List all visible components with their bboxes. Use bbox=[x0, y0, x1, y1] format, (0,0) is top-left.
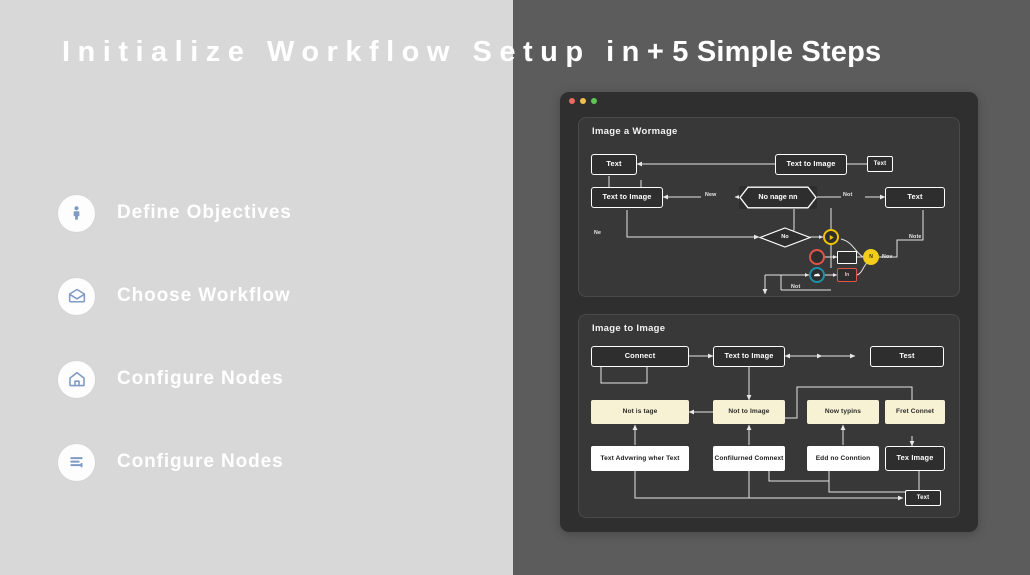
step-item-3[interactable]: Configure Nodes bbox=[58, 358, 488, 400]
node-label: No nage nn bbox=[758, 193, 797, 201]
node-fret-connet[interactable]: Fret Connet bbox=[885, 400, 945, 424]
step-item-4[interactable]: Configure Nodes bbox=[58, 441, 488, 483]
step-label-1: Define Objectives bbox=[117, 202, 292, 224]
node-label: Fret Connet bbox=[896, 408, 934, 415]
maximize-dot[interactable] bbox=[591, 98, 597, 104]
node-text-to-image-2[interactable]: Text to Image bbox=[591, 187, 663, 208]
node-label: Text to Image bbox=[602, 193, 651, 201]
diagram-panel-1: Image a Wormage bbox=[578, 117, 960, 297]
node-play-circle[interactable] bbox=[823, 229, 839, 245]
node-label: Text bbox=[874, 161, 887, 168]
node-edd-no-conntion[interactable]: Edd no Conntion bbox=[807, 446, 879, 471]
step-label-4: Configure Nodes bbox=[117, 451, 284, 473]
node-terminal-text[interactable]: Text bbox=[905, 490, 941, 506]
node-confilurned[interactable]: Confilurned Comnext bbox=[713, 446, 785, 471]
node-tex-image[interactable]: Tex Image bbox=[885, 446, 945, 471]
close-dot[interactable] bbox=[569, 98, 575, 104]
minimize-dot[interactable] bbox=[580, 98, 586, 104]
edge-label-not2: Not bbox=[791, 284, 800, 290]
node-label: No bbox=[781, 234, 788, 240]
node-decision-hexagon[interactable]: No nage nn bbox=[739, 186, 817, 209]
home-icon bbox=[58, 361, 95, 398]
node-label: Tex Image bbox=[897, 454, 934, 462]
node-label: Not is tage bbox=[623, 408, 658, 415]
node-decision-small[interactable]: No bbox=[759, 227, 811, 248]
node-text-to-image-1[interactable]: Text to Image bbox=[775, 154, 847, 175]
node-label: Not to Image bbox=[728, 408, 769, 415]
node-text-2[interactable]: Text bbox=[885, 187, 945, 208]
app-window: Image a Wormage bbox=[560, 92, 978, 532]
node-label: Text bbox=[606, 160, 621, 168]
node-text-advwring[interactable]: Text Advwring wher Text bbox=[591, 446, 689, 471]
node-label: Edd no Conntion bbox=[816, 455, 871, 462]
page-title-part2: + 5 Simple Steps bbox=[647, 36, 882, 68]
node-yellow-circle[interactable]: N bbox=[863, 249, 879, 265]
node-not-to-image[interactable]: Not to Image bbox=[713, 400, 785, 424]
list-icon bbox=[58, 444, 95, 481]
slide-canvas: Initialize Workflow Setup in+ 5 Simple S… bbox=[0, 0, 1030, 575]
node-text-1[interactable]: Text bbox=[591, 154, 637, 175]
node-label: Text to Image bbox=[724, 352, 773, 360]
edge-label-new: New bbox=[705, 192, 717, 198]
node-not-is-tage[interactable]: Not is tage bbox=[591, 400, 689, 424]
node-test[interactable]: Test bbox=[870, 346, 944, 367]
step-label-3: Configure Nodes bbox=[117, 368, 284, 390]
window-titlebar bbox=[560, 92, 978, 110]
edge-label-not: Not bbox=[843, 192, 852, 198]
step-label-2: Choose Workflow bbox=[117, 285, 291, 307]
steps-list: Define Objectives Choose Workflow Config… bbox=[58, 192, 488, 524]
node-label: Text bbox=[917, 495, 930, 502]
node-label: Confilurned Comnext bbox=[715, 455, 784, 462]
node-white-shape[interactable] bbox=[837, 251, 857, 264]
node-label: Text Advwring wher Text bbox=[600, 455, 679, 462]
panel-2-title: Image to Image bbox=[592, 323, 665, 334]
diagram-panel-2: Image to Image bbox=[578, 314, 960, 518]
node-text-small-1[interactable]: Text bbox=[867, 156, 893, 172]
edge-label-nov: Nov bbox=[882, 254, 893, 260]
edge-label-note: Note bbox=[909, 234, 922, 240]
node-red-box[interactable]: In bbox=[837, 268, 857, 282]
user-icon bbox=[58, 195, 95, 232]
node-now-typins[interactable]: Now typins bbox=[807, 400, 879, 424]
step-item-2[interactable]: Choose Workflow bbox=[58, 275, 488, 317]
node-label: Now typins bbox=[825, 408, 861, 415]
node-teal-circle[interactable] bbox=[809, 267, 825, 283]
panel-1-title: Image a Wormage bbox=[592, 126, 678, 137]
node-label: Text bbox=[907, 193, 922, 201]
page-title-part1: Initialize Workflow Setup in bbox=[62, 36, 647, 68]
node-label: Connect bbox=[625, 352, 656, 360]
node-text-to-image-3[interactable]: Text to Image bbox=[713, 346, 785, 367]
edge-label-ne: Ne bbox=[594, 230, 601, 236]
node-label: In bbox=[845, 272, 849, 278]
envelope-icon bbox=[58, 278, 95, 315]
page-title: Initialize Workflow Setup in+ 5 Simple S… bbox=[62, 36, 881, 69]
node-label: Test bbox=[899, 352, 914, 360]
node-label: N bbox=[869, 254, 873, 260]
node-connect[interactable]: Connect bbox=[591, 346, 689, 367]
node-red-circle[interactable] bbox=[809, 249, 825, 265]
step-item-1[interactable]: Define Objectives bbox=[58, 192, 488, 234]
node-label: Text to Image bbox=[786, 160, 835, 168]
